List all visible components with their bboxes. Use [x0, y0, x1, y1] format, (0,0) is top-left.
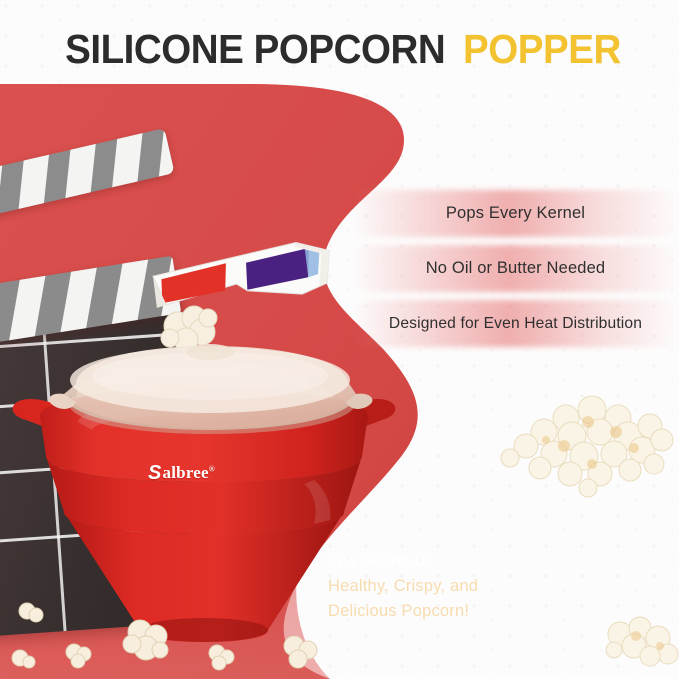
promo-copy: The Secret to Healthy, Crispy, and Delic…	[328, 549, 478, 624]
popcorn-pile-icon	[606, 612, 679, 672]
popcorn-kernel-icon	[278, 630, 322, 670]
popcorn-kernel-icon	[16, 600, 46, 626]
feature-item: Pops Every Kernel	[352, 186, 679, 241]
feature-item: No Oil or Butter Needed	[352, 241, 679, 296]
popcorn-kernel-icon	[205, 640, 239, 670]
feature-label: Designed for Even Heat Distribution	[383, 315, 648, 333]
promo-line-1: The Secret to	[328, 549, 478, 574]
registered-mark: ®	[209, 464, 215, 473]
title-part-accent: POPPER	[463, 26, 621, 73]
brand-name: albree	[163, 463, 209, 482]
popcorn-kernel-icon	[62, 638, 96, 668]
feature-label: Pops Every Kernel	[440, 204, 591, 223]
product-marketing-image: SILICONE POPCORN POPPER	[0, 0, 679, 679]
brand-logo: Salbree®	[148, 461, 215, 484]
popcorn-kernel-icon	[118, 614, 178, 666]
feature-label: No Oil or Butter Needed	[420, 259, 612, 278]
promo-line-2: Healthy, Crispy, and	[328, 574, 478, 599]
title-part-primary: SILICONE POPCORN	[66, 26, 446, 73]
brand-mark: S	[148, 462, 162, 485]
page-title: SILICONE POPCORN POPPER	[0, 26, 679, 73]
feature-item: Designed for Even Heat Distribution	[352, 296, 679, 351]
feature-list: Pops Every Kernel No Oil or Butter Neede…	[352, 186, 679, 351]
popcorn-pile-icon	[492, 388, 678, 508]
promo-line-3: Delicious Popcorn!	[328, 599, 478, 624]
popcorn-kernel-icon	[8, 646, 38, 672]
